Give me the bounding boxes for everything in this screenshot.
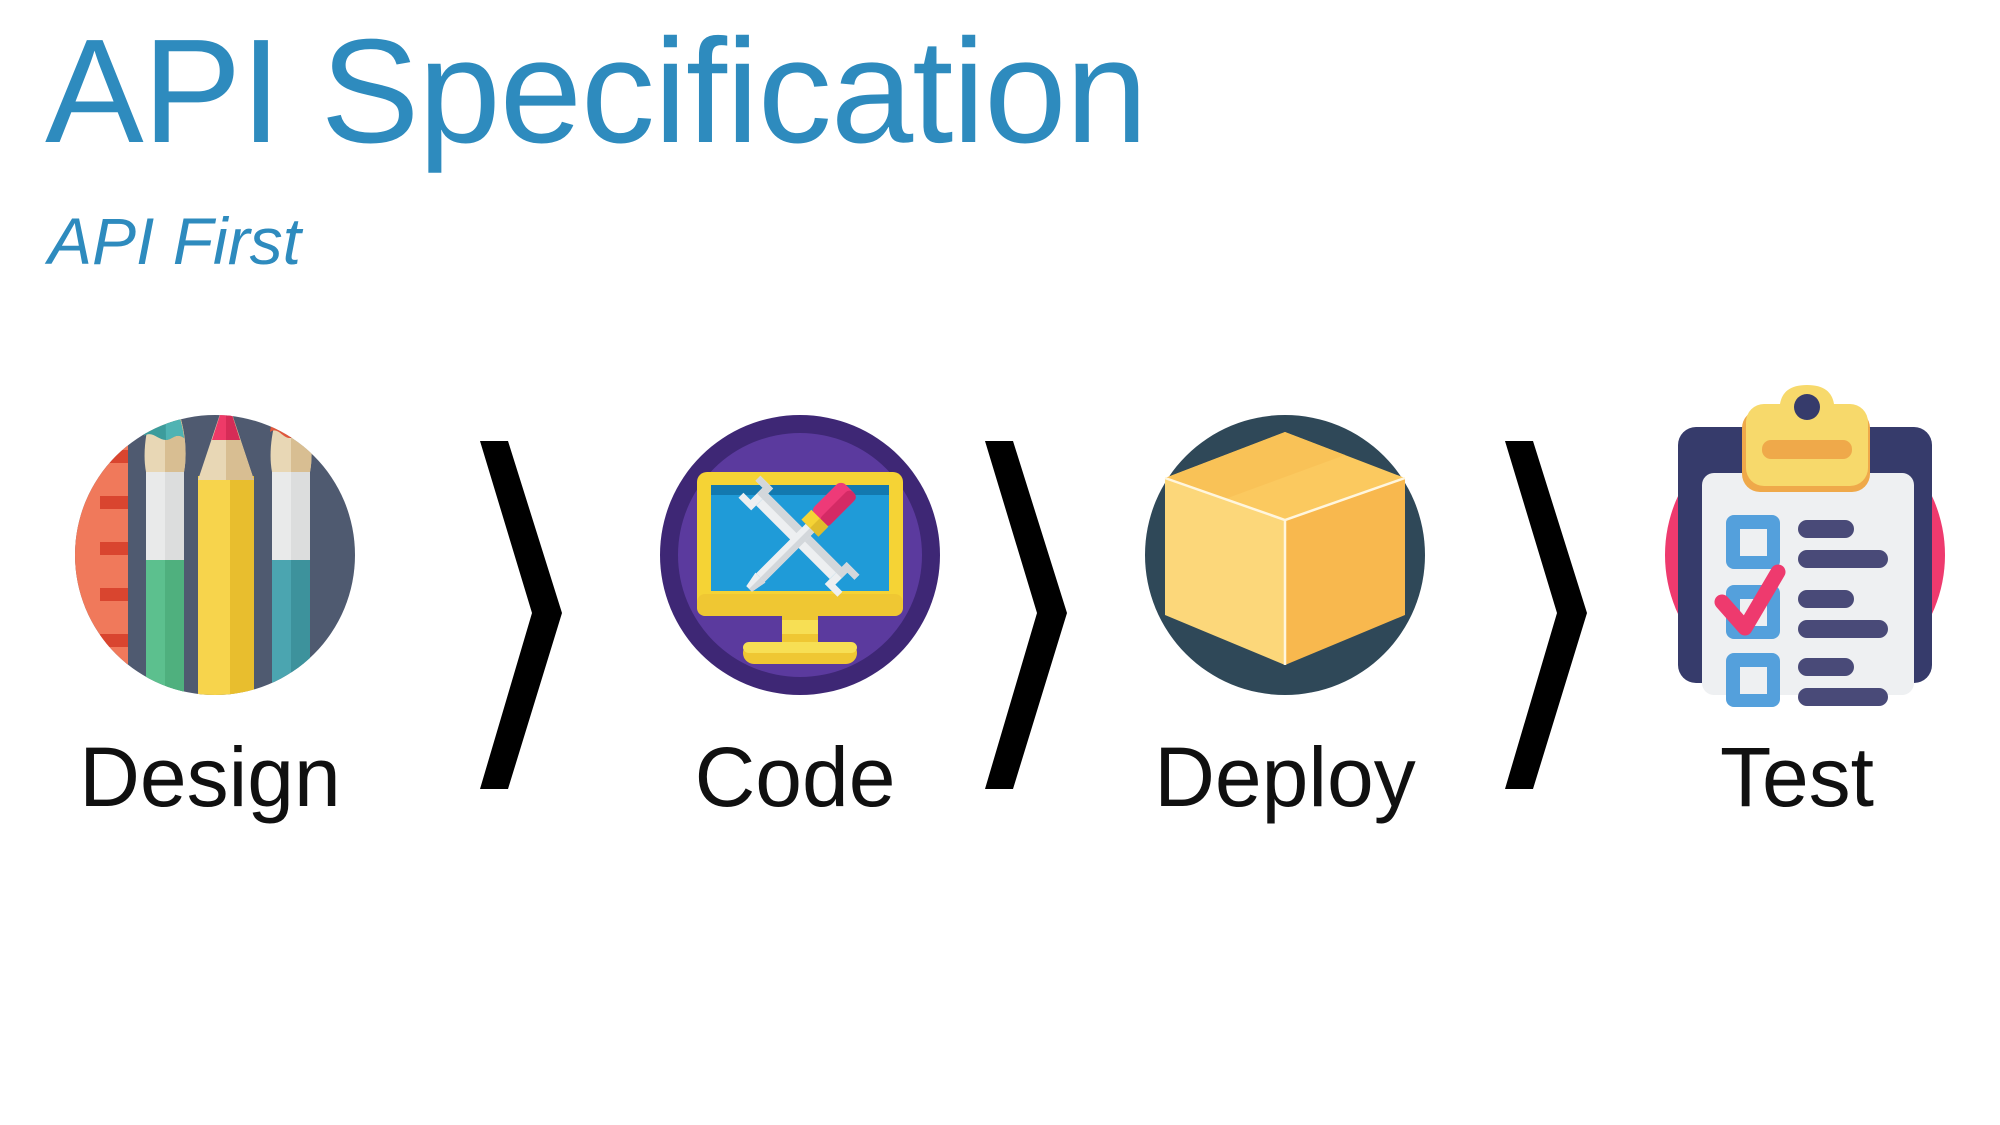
- design-tools-icon: [40, 380, 390, 730]
- flow-step-deploy[interactable]: Deploy: [1105, 380, 1465, 860]
- monitor-tools-icon: [625, 380, 975, 730]
- page-title: API Specification: [45, 18, 1147, 166]
- chevron-right-icon: [1495, 435, 1605, 795]
- flow-step-code[interactable]: Code: [620, 380, 980, 860]
- flow-step-label-code: Code: [615, 735, 975, 819]
- flow-step-label-deploy: Deploy: [1105, 735, 1465, 819]
- slide-canvas: API Specification API First: [0, 0, 2000, 1125]
- package-box-icon: [1110, 380, 1460, 730]
- flow-step-design[interactable]: Design: [35, 380, 395, 860]
- flow-step-test[interactable]: Test: [1625, 380, 1985, 860]
- process-flow: Design: [0, 380, 2000, 860]
- flow-step-label-test: Test: [1617, 735, 1977, 819]
- flow-step-label-design: Design: [30, 735, 390, 819]
- chevron-right-icon: [470, 435, 580, 795]
- page-subtitle: API First: [48, 208, 301, 274]
- clipboard-checklist-icon: [1630, 380, 1980, 730]
- chevron-right-icon: [975, 435, 1085, 795]
